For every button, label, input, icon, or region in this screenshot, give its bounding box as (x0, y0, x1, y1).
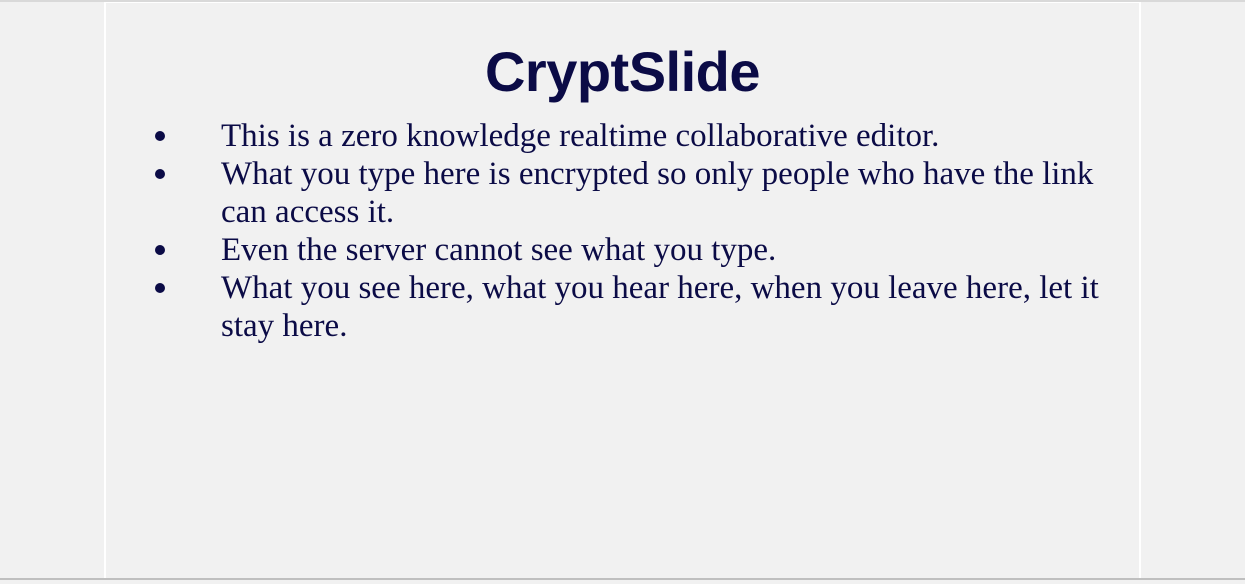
left-gutter (0, 2, 104, 578)
slide-viewer: CryptSlide This is a zero knowledge real… (0, 0, 1245, 584)
bullet-dot-icon (155, 245, 165, 255)
list-item-text: What you see here, what you hear here, w… (221, 269, 1108, 345)
list-item-text: What you type here is encrypted so only … (221, 155, 1108, 231)
bullet-dot-icon (155, 283, 165, 293)
list-item[interactable]: What you type here is encrypted so only … (148, 155, 1108, 231)
viewport-bottom-rule (0, 578, 1245, 580)
bullet-dot-icon (155, 169, 165, 179)
bullet-dot-icon (155, 131, 165, 141)
list-item[interactable]: This is a zero knowledge realtime collab… (148, 117, 1108, 155)
slide-surface[interactable]: CryptSlide This is a zero knowledge real… (104, 2, 1141, 578)
slide-title[interactable]: CryptSlide (106, 39, 1139, 105)
list-item[interactable]: What you see here, what you hear here, w… (148, 269, 1108, 345)
slide-content: CryptSlide This is a zero knowledge real… (106, 3, 1139, 578)
right-gutter (1141, 2, 1245, 578)
list-item[interactable]: Even the server cannot see what you type… (148, 231, 1108, 269)
list-item-text: This is a zero knowledge realtime collab… (221, 117, 1108, 155)
list-item-text: Even the server cannot see what you type… (221, 231, 1108, 269)
slide-bullet-list[interactable]: This is a zero knowledge realtime collab… (148, 117, 1108, 345)
